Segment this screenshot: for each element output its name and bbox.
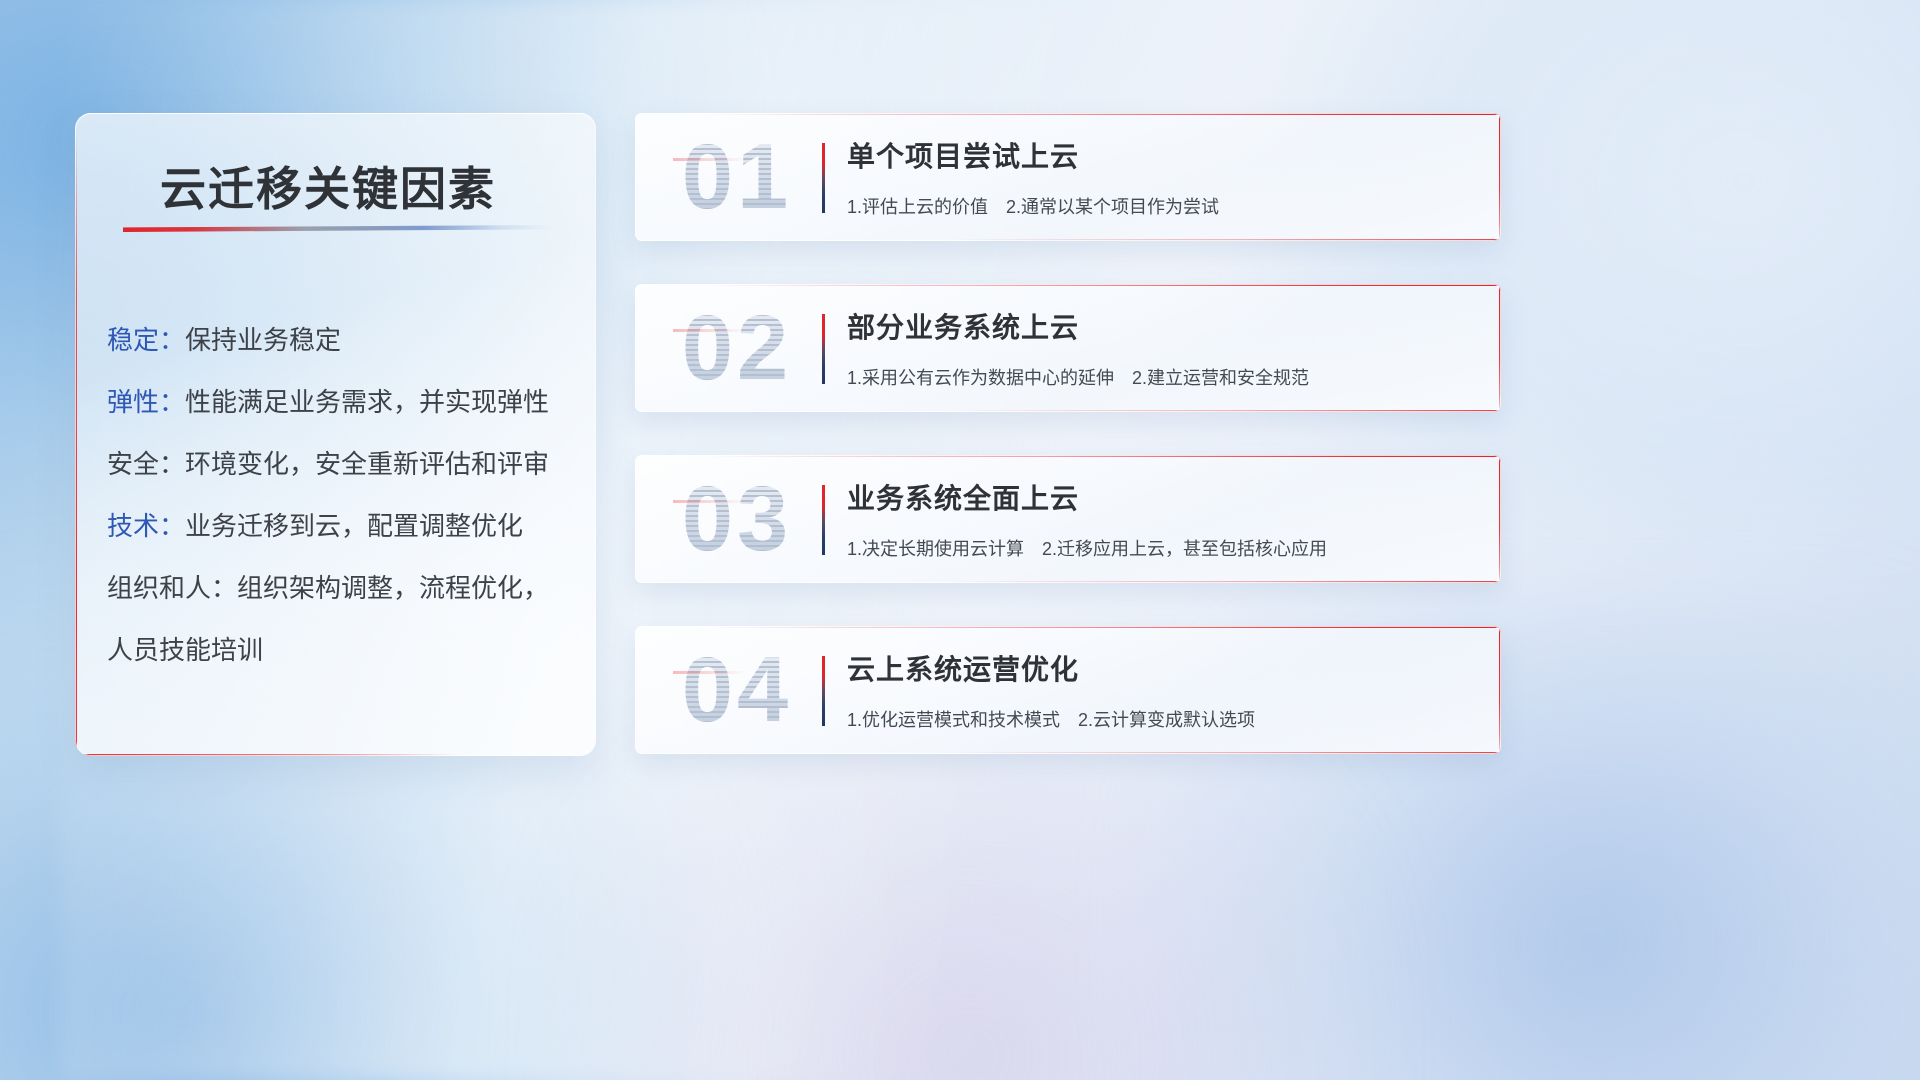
- card-bottom-accent-bar: [75, 754, 461, 756]
- stage-point-2: 2.迁移应用上云，甚至包括核心应用: [1042, 539, 1327, 559]
- stage-card-03[interactable]: 03 业务系统全面上云 1.决定长期使用云计算2.迁移应用上云，甚至包括核心应用: [635, 455, 1501, 583]
- stage-number: 01: [657, 123, 817, 231]
- stage-content: 部分业务系统上云 1.采用公有云作为数据中心的延伸2.建立运营和安全规范: [847, 306, 1461, 390]
- stage-divider-bar: [822, 656, 825, 726]
- card-right-accent-bar: [1499, 284, 1501, 412]
- stage-content: 单个项目尝试上云 1.评估上云的价值2.通常以某个项目作为尝试: [847, 135, 1461, 219]
- stage-title: 部分业务系统上云: [847, 306, 1461, 346]
- list-item: 安全：环境变化，安全重新评估和评审: [107, 433, 572, 495]
- card-bottom-accent-bar: [947, 410, 1501, 412]
- page-title: 云迁移关键因素: [160, 153, 496, 219]
- stage-content: 业务系统全面上云 1.决定长期使用云计算2.迁移应用上云，甚至包括核心应用: [847, 477, 1461, 561]
- card-top-accent-bar: [704, 626, 1501, 628]
- stage-divider-bar: [822, 314, 825, 384]
- list-item: 稳定：保持业务稳定: [107, 309, 572, 371]
- list-item-key: 弹性：: [107, 387, 185, 417]
- list-item-text: 人员技能培训: [107, 635, 263, 665]
- stage-number: 03: [657, 465, 817, 573]
- card-top-accent-bar: [704, 455, 1501, 457]
- list-item-text: 保持业务稳定: [185, 325, 341, 355]
- stage-point-1: 1.优化运营模式和技术模式: [847, 710, 1060, 730]
- stage-point-2: 2.建立运营和安全规范: [1132, 368, 1309, 388]
- stage-point-2: 2.云计算变成默认选项: [1078, 710, 1255, 730]
- list-item-key: 技术：: [107, 511, 185, 541]
- card-right-accent-bar: [1499, 626, 1501, 754]
- stage-point-2: 2.通常以某个项目作为尝试: [1006, 197, 1219, 217]
- stage-title: 云上系统运营优化: [847, 648, 1461, 688]
- stage-title: 业务系统全面上云: [847, 477, 1461, 517]
- stage-point-1: 1.评估上云的价值: [847, 197, 988, 217]
- stage-points: 1.采用公有云作为数据中心的延伸2.建立运营和安全规范: [847, 364, 1461, 390]
- title-underline-rule: [123, 225, 553, 232]
- stage-points: 1.评估上云的价值2.通常以某个项目作为尝试: [847, 193, 1461, 219]
- stage-content: 云上系统运营优化 1.优化运营模式和技术模式2.云计算变成默认选项: [847, 648, 1461, 732]
- list-item-text: 环境变化，安全重新评估和评审: [185, 449, 549, 479]
- card-top-accent-bar: [704, 113, 1501, 115]
- stage-divider-bar: [822, 485, 825, 555]
- stage-card-04[interactable]: 04 云上系统运营优化 1.优化运营模式和技术模式2.云计算变成默认选项: [635, 626, 1501, 754]
- list-item-key: 组织和人：: [107, 573, 237, 603]
- card-bottom-accent-bar: [947, 581, 1501, 583]
- list-item: 弹性：性能满足业务需求，并实现弹性: [107, 371, 572, 433]
- card-bottom-accent-bar: [947, 239, 1501, 241]
- card-right-accent-bar: [1499, 455, 1501, 583]
- list-item-key: 安全：: [107, 449, 185, 479]
- list-item: 技术：业务迁移到云，配置调整优化: [107, 495, 572, 557]
- stage-point-1: 1.决定长期使用云计算: [847, 539, 1024, 559]
- key-factors-list: 稳定：保持业务稳定 弹性：性能满足业务需求，并实现弹性 安全：环境变化，安全重新…: [107, 309, 572, 681]
- list-item-text: 性能满足业务需求，并实现弹性: [185, 387, 549, 417]
- card-bottom-accent-bar: [947, 752, 1501, 754]
- list-item-key: 稳定：: [107, 325, 185, 355]
- stage-point-1: 1.采用公有云作为数据中心的延伸: [847, 368, 1114, 388]
- list-item: 人员技能培训: [107, 619, 572, 681]
- list-item-text: 业务迁移到云，配置调整优化: [185, 511, 523, 541]
- stage-number: 04: [657, 636, 817, 744]
- card-left-accent-bar: [75, 127, 77, 756]
- card-top-accent-bar: [704, 284, 1501, 286]
- stage-card-02[interactable]: 02 部分业务系统上云 1.采用公有云作为数据中心的延伸2.建立运营和安全规范: [635, 284, 1501, 412]
- stage-number: 02: [657, 294, 817, 402]
- list-item: 组织和人：组织架构调整，流程优化，: [107, 557, 572, 619]
- card-right-accent-bar: [1499, 113, 1501, 241]
- stage-card-01[interactable]: 01 单个项目尝试上云 1.评估上云的价值2.通常以某个项目作为尝试: [635, 113, 1501, 241]
- list-item-text: 组织架构调整，流程优化，: [237, 573, 549, 603]
- stage-points: 1.优化运营模式和技术模式2.云计算变成默认选项: [847, 706, 1461, 732]
- key-factors-card: 云迁移关键因素 稳定：保持业务稳定 弹性：性能满足业务需求，并实现弹性 安全：环…: [75, 113, 596, 756]
- stage-title: 单个项目尝试上云: [847, 135, 1461, 175]
- stage-divider-bar: [822, 143, 825, 213]
- stage-card-list: 01 单个项目尝试上云 1.评估上云的价值2.通常以某个项目作为尝试 02 部分…: [635, 113, 1501, 754]
- stage-points: 1.决定长期使用云计算2.迁移应用上云，甚至包括核心应用: [847, 535, 1461, 561]
